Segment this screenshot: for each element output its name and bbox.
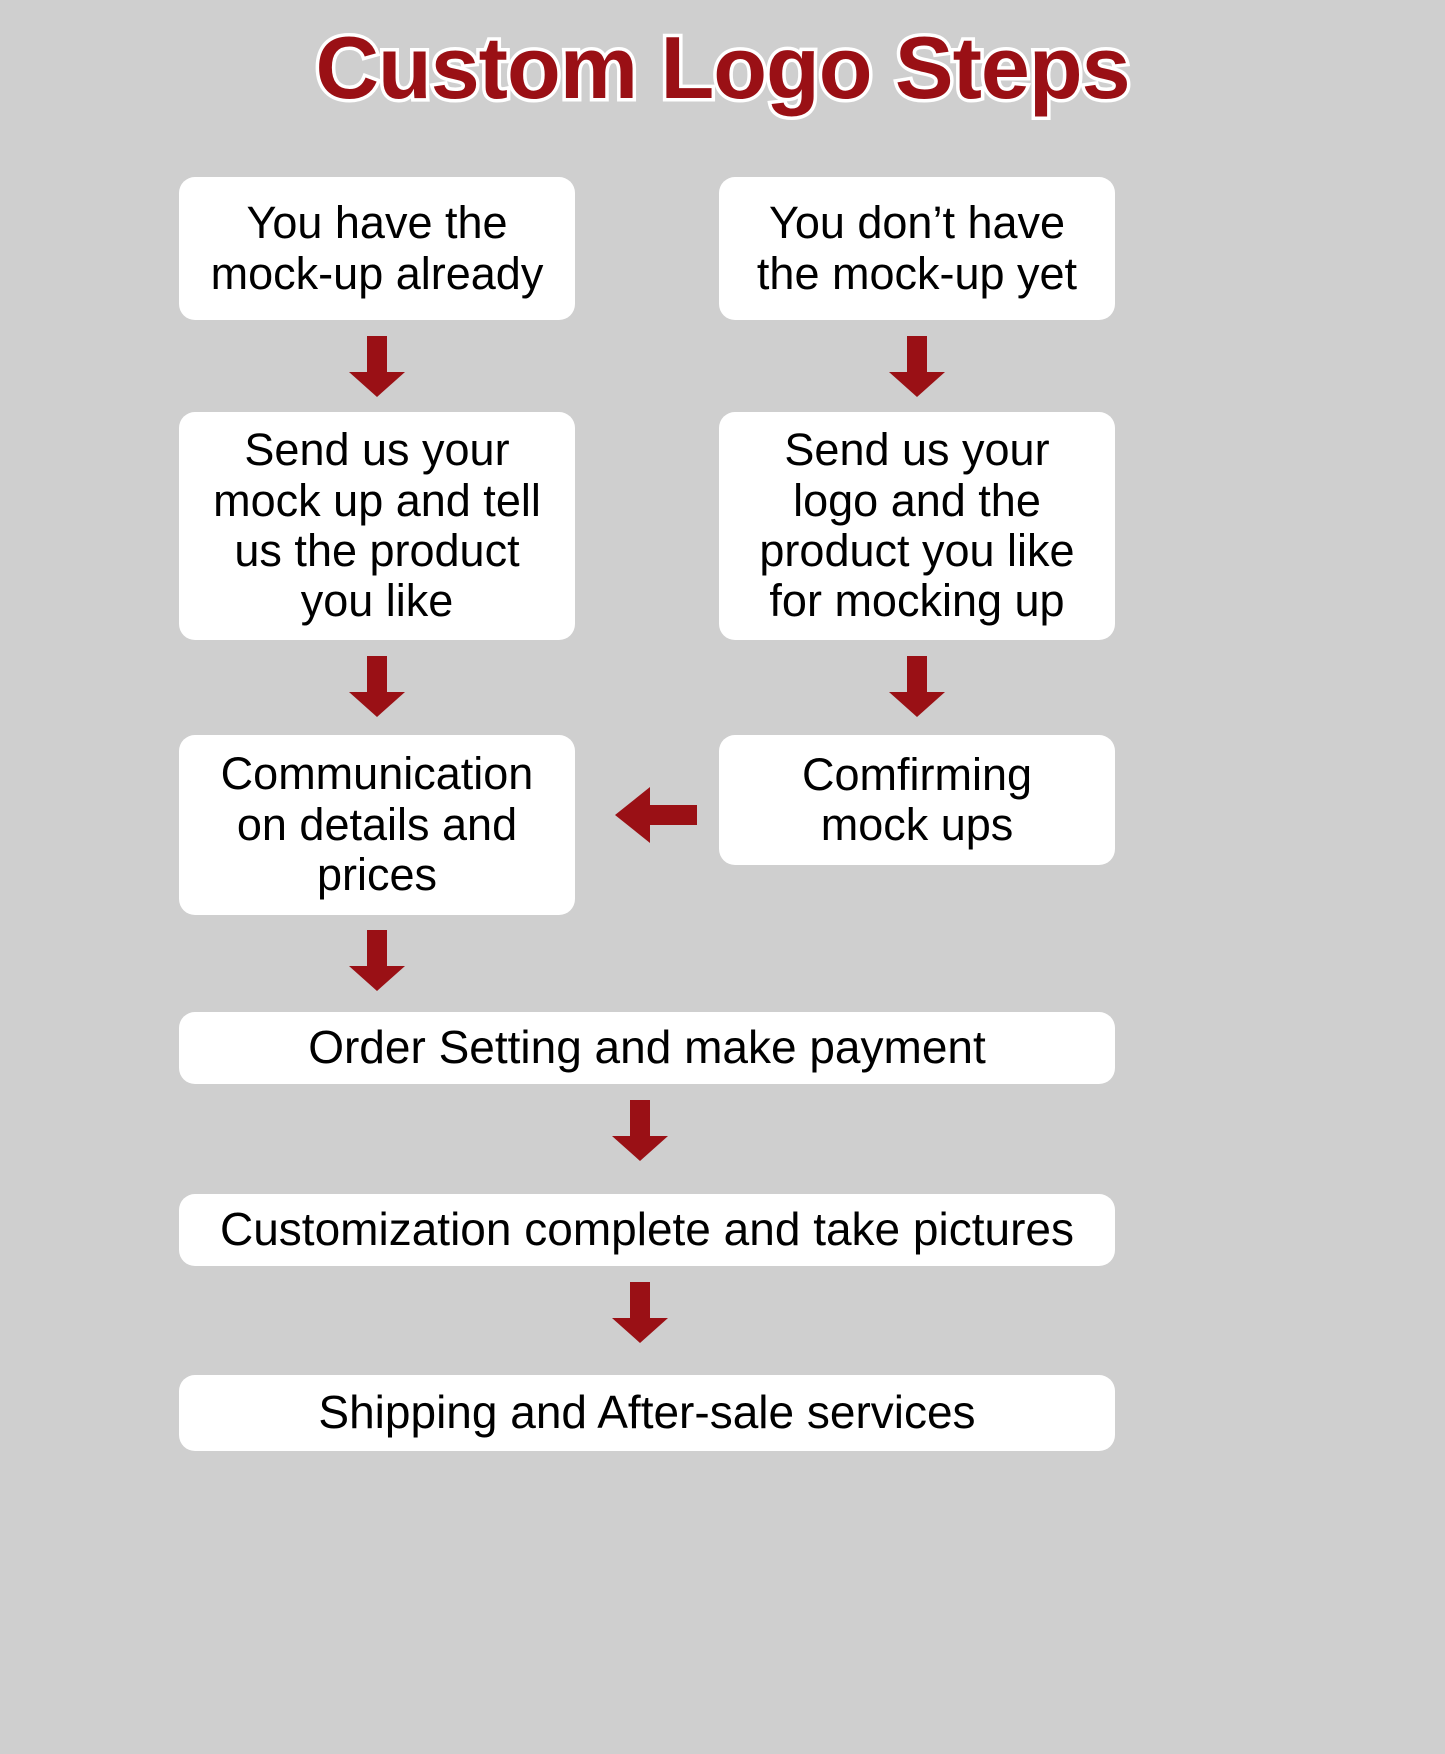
- step-box-no-mockup: You don’t have the mock-up yet: [719, 177, 1115, 320]
- step-label: You don’t have the mock-up yet: [757, 198, 1077, 299]
- step-box-communication: Communication on details and prices: [179, 735, 575, 915]
- step-box-have-mockup: You have the mock-up already: [179, 177, 575, 320]
- arrow-down-icon: [348, 930, 406, 992]
- arrow-down-icon: [348, 336, 406, 398]
- step-label: Send us your logo and the product you li…: [759, 425, 1074, 627]
- arrow-down-icon: [611, 1282, 669, 1344]
- arrow-down-icon: [611, 1100, 669, 1162]
- step-label: Customization complete and take pictures: [220, 1204, 1074, 1256]
- step-label: Send us your mock up and tell us the pro…: [213, 425, 541, 627]
- step-label: Shipping and After-sale services: [318, 1387, 975, 1439]
- arrow-down-icon: [888, 656, 946, 718]
- step-box-send-mockup: Send us your mock up and tell us the pro…: [179, 412, 575, 640]
- step-box-customization: Customization complete and take pictures: [179, 1194, 1115, 1266]
- step-label: Order Setting and make payment: [308, 1022, 986, 1074]
- step-box-shipping: Shipping and After-sale services: [179, 1375, 1115, 1451]
- step-box-confirming: Comfirming mock ups: [719, 735, 1115, 865]
- arrow-down-icon: [888, 336, 946, 398]
- step-label: You have the mock-up already: [211, 198, 544, 299]
- step-label: Communication on details and prices: [221, 749, 534, 900]
- step-label: Comfirming mock ups: [802, 750, 1032, 851]
- arrow-left-icon: [614, 786, 698, 844]
- page-title: Custom Logo Steps: [0, 22, 1445, 114]
- step-box-order-setting: Order Setting and make payment: [179, 1012, 1115, 1084]
- arrow-down-icon: [348, 656, 406, 718]
- step-box-send-logo: Send us your logo and the product you li…: [719, 412, 1115, 640]
- flowchart-canvas: Custom Logo Steps You have the mock-up a…: [0, 0, 1445, 1754]
